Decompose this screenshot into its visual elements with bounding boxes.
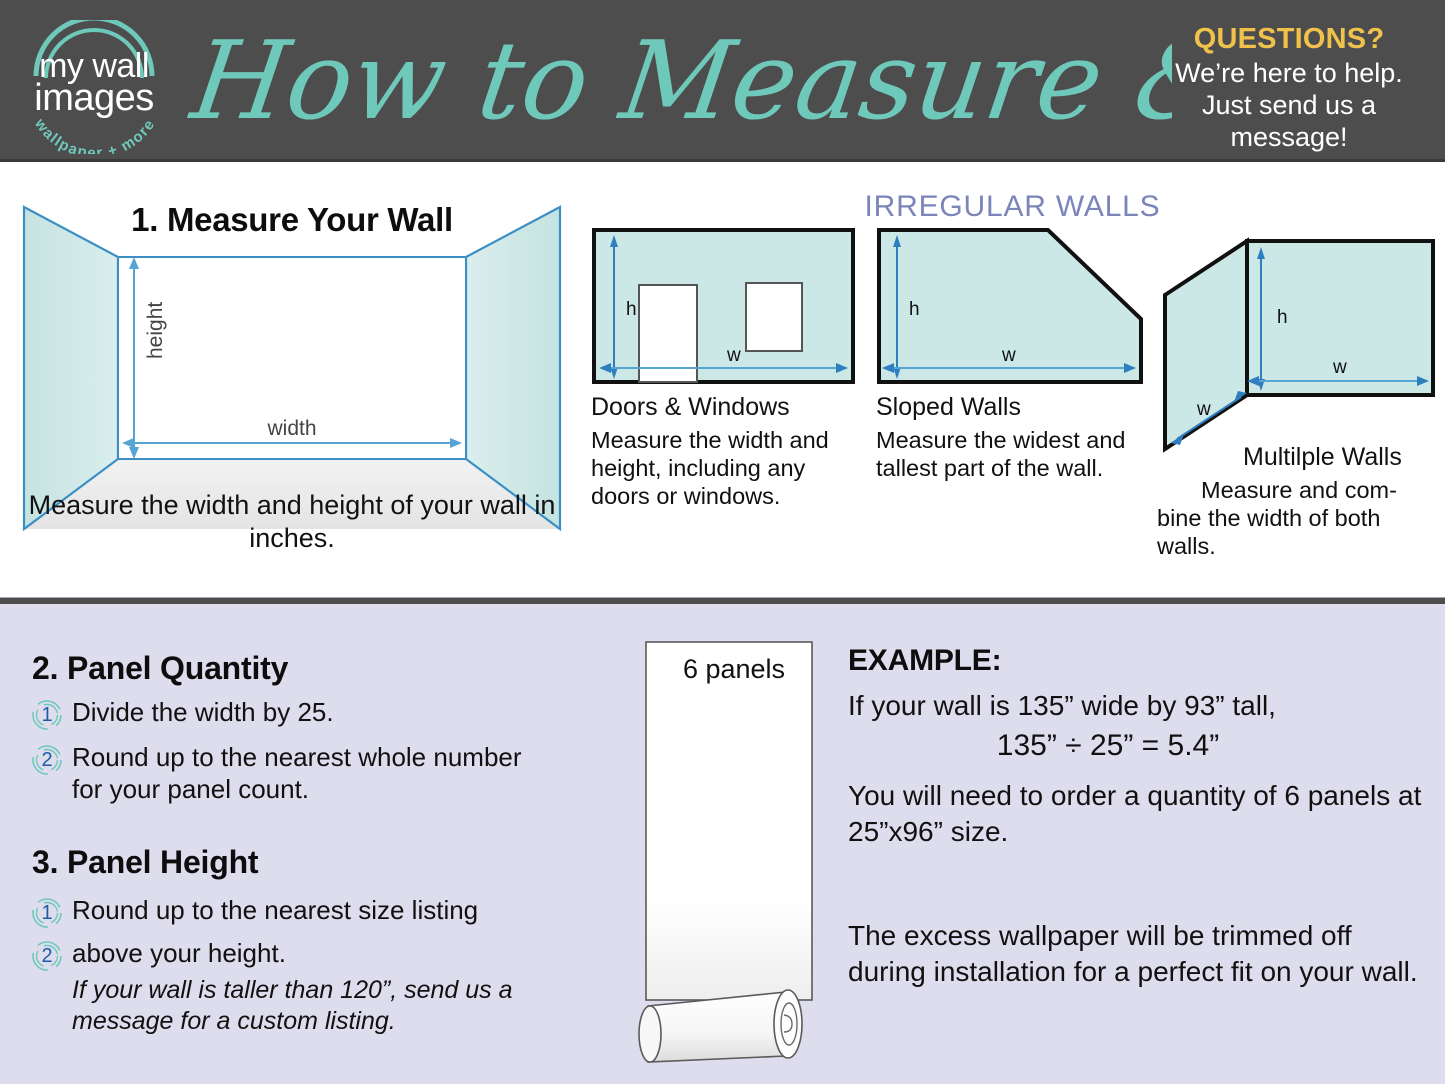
h-label: h	[626, 299, 637, 320]
diagram-multiple-walls: h w w Multilple Walls Measure and com- b…	[1157, 227, 1442, 560]
height-label: height	[144, 302, 167, 359]
step3-bullet-1: 1 Round up to the nearest size listing	[30, 894, 550, 930]
bullet-text: Round up to the nearest whole number for…	[72, 741, 550, 805]
diagram-text-line2: bine the width of both	[1157, 505, 1380, 531]
step2-title: 2. Panel Quantity	[32, 650, 288, 687]
step1-caption: Measure the width and height of your wal…	[14, 489, 570, 555]
questions-heading: QUESTIONS?	[1155, 22, 1423, 56]
w2-label: w	[1196, 399, 1211, 420]
diagram-text: Measure the width and height, including …	[591, 426, 864, 510]
step3-note: If your wall is taller than 120”, send u…	[72, 975, 552, 1037]
page-title-script: How to Measure & Order	[182, 8, 1172, 154]
example-calculation: 135” ÷ 25” = 5.4”	[848, 726, 1428, 766]
diagram-text: Measure the widest and tallest part of t…	[876, 426, 1149, 482]
diagram-text-line1: Measure and com-	[1201, 477, 1397, 503]
example-line-1: If your wall is 135” wide by 93” tall,	[848, 688, 1428, 724]
diagram-text-line3: walls.	[1157, 533, 1216, 559]
logo-tagline: wallpaper + more	[20, 102, 170, 154]
wallpaper-roll-illustration: 6 panels	[634, 638, 834, 1068]
example-line-3: The excess wallpaper will be trimmed off…	[848, 918, 1428, 990]
step2-bullet-1: 1 Divide the width by 25.	[30, 696, 550, 732]
badge-number-icon: 1	[30, 896, 64, 930]
h-label: h	[909, 299, 920, 320]
wallpaper-roll-icon	[634, 638, 834, 1068]
panel-calc-section: 2. Panel Quantity 1 Divide the width by …	[0, 604, 1445, 1084]
badge-number: 2	[30, 939, 64, 973]
badge-number-icon: 1	[30, 698, 64, 732]
roll-label: 6 panels	[656, 654, 812, 685]
infographic-page: my wall images wallpaper + more How to M…	[0, 0, 1445, 1084]
badge-number: 2	[30, 743, 64, 777]
w-label: w	[726, 345, 741, 366]
w-label: w	[1001, 345, 1016, 366]
diagram-text: Measure and com- bine the width of both …	[1157, 476, 1442, 560]
irregular-walls-heading: IRREGULAR WALLS	[585, 190, 1440, 224]
diagram-sloped-walls: h w Sloped Walls Measure the widest and …	[876, 227, 1149, 482]
step1-title: 1. Measure Your Wall	[14, 201, 570, 239]
diagram-doors-windows: h w Doors & Windows Measure the width an…	[591, 227, 864, 510]
h-label: h	[1277, 307, 1288, 328]
svg-text:wallpaper + more: wallpaper + more	[31, 115, 159, 154]
bullet-text: Round up to the nearest size listing	[72, 894, 478, 926]
diagram-title: Multilple Walls	[1243, 443, 1442, 472]
brand-logo: my wall images wallpaper + more	[14, 16, 174, 152]
bullet-text: Divide the width by 25.	[72, 696, 334, 728]
page-header: my wall images wallpaper + more How to M…	[0, 0, 1445, 162]
example-block: EXAMPLE: If your wall is 135” wide by 93…	[848, 644, 1428, 990]
diagram-title: Sloped Walls	[876, 393, 1149, 422]
page-title: How to Measure & Order	[182, 8, 1172, 154]
measure-wall-diagram: height width 1. Measure Your Wall Measur…	[14, 189, 570, 549]
step3-bullet-2: 2 above your height.	[30, 937, 550, 973]
sloped-walls-svg: h w	[876, 227, 1144, 385]
step3-title: 3. Panel Height	[32, 844, 258, 881]
badge-number: 1	[30, 896, 64, 930]
doors-windows-svg: h w	[591, 227, 856, 385]
w-label: w	[1332, 357, 1347, 378]
badge-number: 1	[30, 698, 64, 732]
example-line-2: You will need to order a quantity of 6 p…	[848, 778, 1428, 850]
bullet-text: above your height.	[72, 937, 286, 969]
width-label: width	[266, 417, 316, 440]
badge-number-icon: 2	[30, 939, 64, 973]
section-divider	[0, 597, 1445, 604]
example-heading: EXAMPLE:	[848, 644, 1428, 678]
questions-block: QUESTIONS? We’re here to help. Just send…	[1155, 22, 1423, 153]
measure-section: height width 1. Measure Your Wall Measur…	[0, 165, 1445, 597]
multiple-walls-svg: h w w	[1157, 227, 1442, 457]
badge-number-icon: 2	[30, 743, 64, 777]
step2-bullet-2: 2 Round up to the nearest whole number f…	[30, 741, 550, 805]
page-title-text: How to Measure & Order	[183, 17, 1172, 143]
questions-body: We’re here to help. Just send us a messa…	[1155, 57, 1423, 153]
diagram-title: Doors & Windows	[591, 393, 864, 422]
